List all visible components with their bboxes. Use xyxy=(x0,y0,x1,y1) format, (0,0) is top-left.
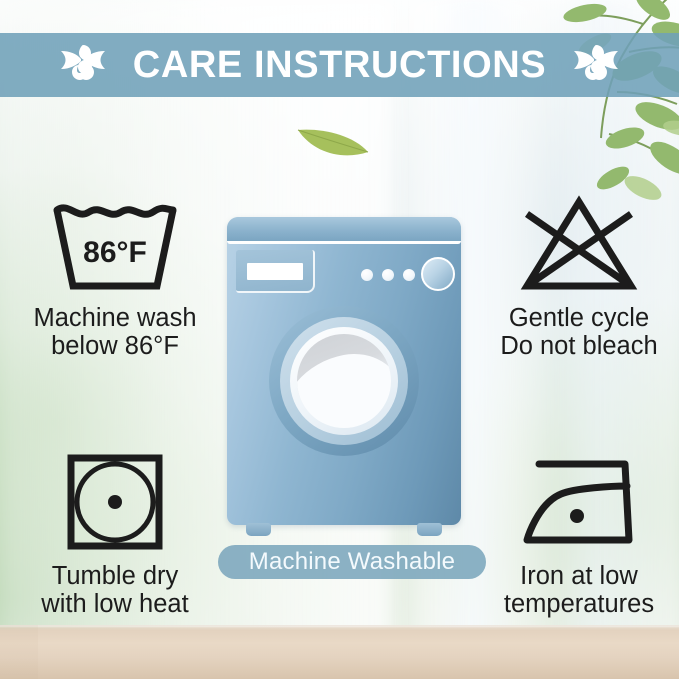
detergent-drawer-slot xyxy=(247,263,303,280)
care-item-do-not-bleach: Gentle cycle Do not bleach xyxy=(474,192,679,361)
fleur-de-lis-icon xyxy=(572,43,620,87)
door-mid-ring xyxy=(280,317,408,445)
care-instructions-infographic: CARE INSTRUCTIONS 86°F Machine wash belo… xyxy=(0,0,679,679)
detergent-drawer xyxy=(236,250,315,293)
wash-temperature-label: 86°F xyxy=(83,236,147,269)
iron-low-temperature-icon xyxy=(513,450,645,554)
care-item-caption: Tumble dry with low heat xyxy=(41,563,188,619)
washing-machine-illustration xyxy=(218,205,470,545)
care-item-tumble-dry: Tumble dry with low heat xyxy=(10,450,220,619)
machine-foot xyxy=(246,523,271,536)
fleur-de-lis-icon xyxy=(59,43,107,87)
door-inner-ring xyxy=(290,327,398,435)
machine-washable-badge: Machine Washable xyxy=(218,545,486,579)
header-banner: CARE INSTRUCTIONS xyxy=(0,33,679,97)
machine-foot xyxy=(417,523,442,536)
care-item-caption: Machine wash below 86°F xyxy=(34,305,197,361)
door-glass xyxy=(297,334,391,428)
page-title: CARE INSTRUCTIONS xyxy=(133,46,546,84)
do-not-bleach-triangle-icon xyxy=(513,192,645,296)
wash-tub-icon: 86°F xyxy=(49,192,181,296)
care-item-caption: Iron at low temperatures xyxy=(504,563,654,619)
machine-door xyxy=(269,306,419,456)
indicator-light xyxy=(403,269,415,281)
care-item-caption: Gentle cycle Do not bleach xyxy=(500,305,657,361)
table-wood-grain xyxy=(0,625,679,679)
care-item-iron-low: Iron at low temperatures xyxy=(474,450,679,619)
machine-top-lid xyxy=(227,217,461,244)
door-glass-highlight xyxy=(297,345,391,428)
indicator-light xyxy=(382,269,394,281)
indicator-light xyxy=(361,269,373,281)
wood-table-surface xyxy=(0,625,679,679)
control-dial xyxy=(421,257,455,291)
care-item-machine-wash: 86°F Machine wash below 86°F xyxy=(10,192,220,361)
machine-washable-badge-label: Machine Washable xyxy=(249,550,455,574)
tumble-dry-low-icon xyxy=(49,450,181,554)
